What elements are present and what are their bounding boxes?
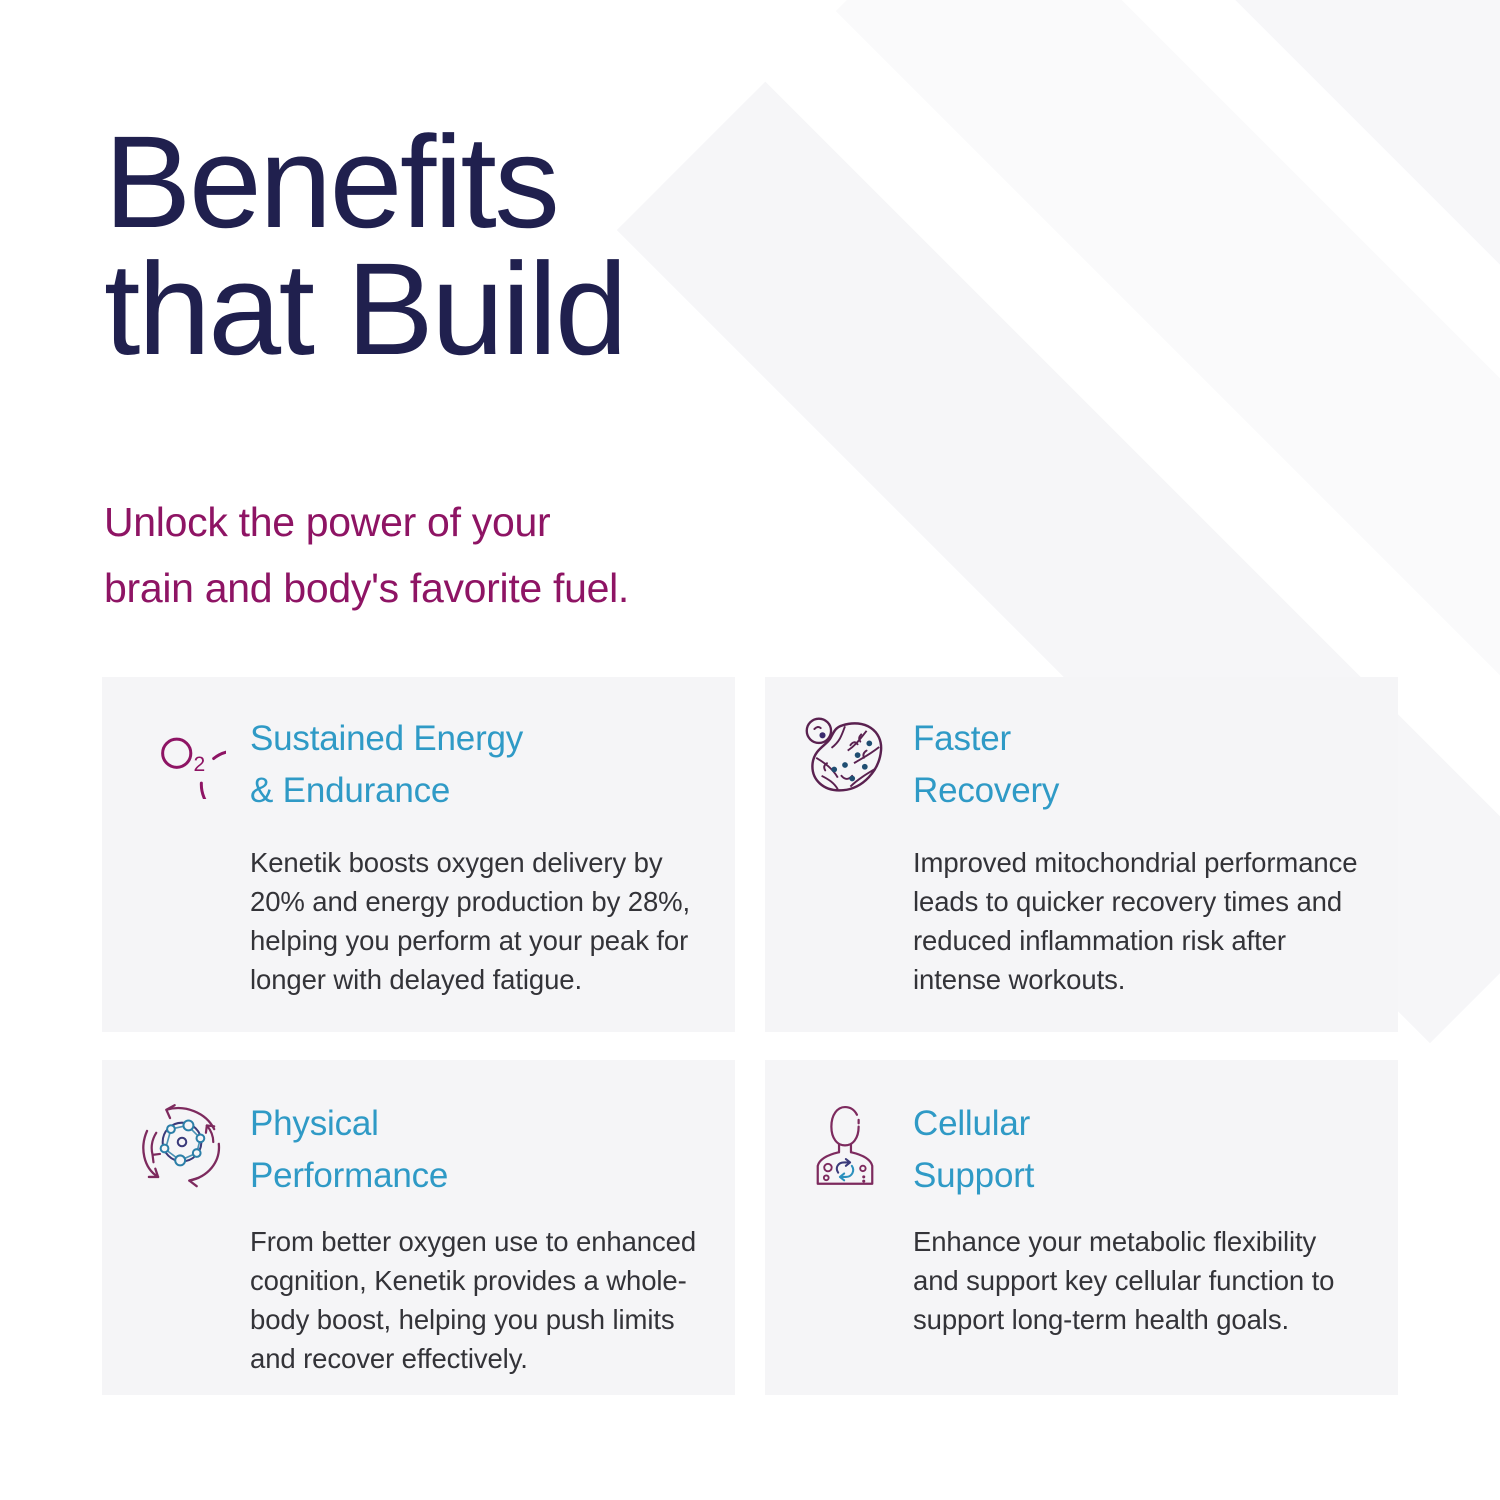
svg-text:2: 2 [193,753,205,776]
card-title: Cellular Support [913,1092,1034,1202]
benefits-card-grid: 2 Sustained Energy & Endurance Kenetik b… [102,677,1398,1395]
page-title: Benefits that Build [104,118,1004,372]
benefit-card-sustained-energy[interactable]: 2 Sustained Energy & Endurance Kenetik b… [102,677,735,1032]
card-title: Faster Recovery [913,707,1059,817]
card-description: Kenetik boosts oxygen delivery by 20% an… [250,843,701,999]
benefits-page: Benefits that Build Unlock the power of … [0,0,1500,1500]
card-title: Sustained Energy & Endurance [250,707,523,817]
card-header: Cellular Support [799,1092,1364,1202]
card-description: Enhance your metabolic flexibility and s… [913,1222,1364,1339]
oxygen-o2-icon: 2 [136,707,228,799]
person-cell-support-icon [799,1092,891,1184]
molecule-cycle-icon [136,1092,228,1184]
card-description: Improved mitochondrial performance leads… [913,843,1364,999]
benefit-card-cellular-support[interactable]: Cellular Support Enhance your metabolic … [765,1060,1398,1395]
card-header: Faster Recovery [799,707,1364,817]
card-description: From better oxygen use to enhanced cogni… [250,1222,701,1378]
mitochondria-icon [799,707,891,799]
card-title: Physical Performance [250,1092,448,1202]
benefit-card-physical-performance[interactable]: Physical Performance From better oxygen … [102,1060,735,1395]
benefit-card-faster-recovery[interactable]: Faster Recovery Improved mitochondrial p… [765,677,1398,1032]
page-subtitle: Unlock the power of your brain and body'… [104,489,864,622]
card-header: 2 Sustained Energy & Endurance [136,707,701,817]
card-header: Physical Performance [136,1092,701,1202]
